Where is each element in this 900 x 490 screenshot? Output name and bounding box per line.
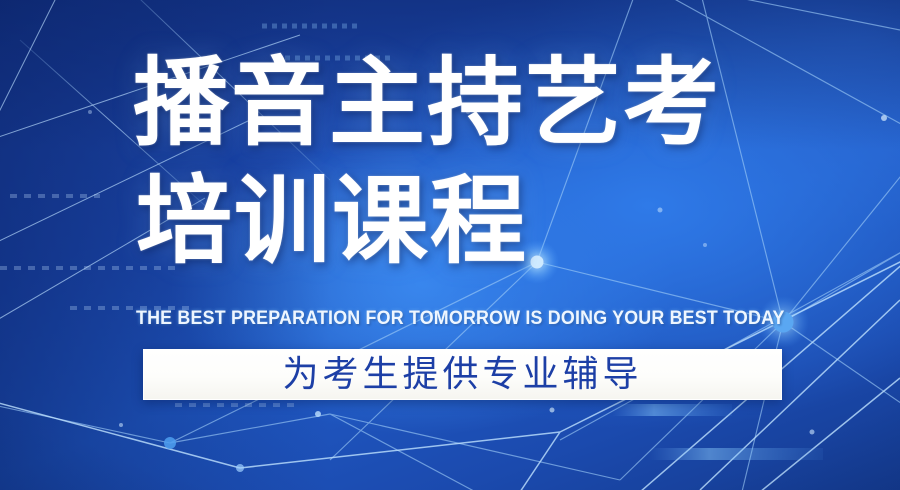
headline-line-2: 培训课程 (136, 166, 528, 276)
subtitle-text: 为考生提供专业辅导 (282, 357, 642, 393)
subtitle-bar: 为考生提供专业辅导 (143, 349, 782, 400)
banner-content: 播音主持艺考 培训课程 THE BEST PREPARATION FOR TOM… (0, 0, 900, 490)
english-tagline: THE BEST PREPARATION FOR TOMORROW IS DOI… (136, 308, 700, 330)
promo-banner: 播音主持艺考 培训课程 THE BEST PREPARATION FOR TOM… (0, 0, 900, 490)
headline-line-1: 播音主持艺考 (133, 48, 721, 158)
